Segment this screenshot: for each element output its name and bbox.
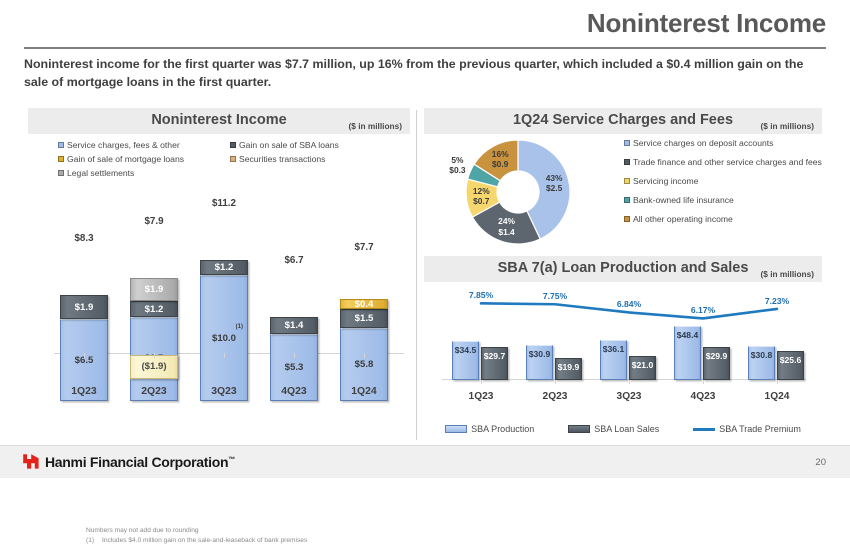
legend-swatch-icon <box>693 428 715 431</box>
noninterest-income-plot: $6.5$1.9$8.31Q23$6.7$1.2$1.9$7.9($1.9)2Q… <box>54 186 404 401</box>
legend-label: Servicing income <box>633 176 698 187</box>
bar-sba-production: $30.8 <box>748 346 775 380</box>
bar-sba-production: $30.9 <box>526 345 553 380</box>
legend-item: Bank-owned life insurance <box>624 195 822 206</box>
x-axis-label: 1Q23 <box>60 386 108 397</box>
trade-premium-label: 7.85% <box>458 290 504 300</box>
donut-legend: Service charges on deposit accounts Trad… <box>624 138 822 233</box>
legend-item: Securities transactions <box>230 154 325 164</box>
legend-item: Gain of sale of mortgage loans <box>58 154 230 164</box>
legend-item: Service charges on deposit accounts <box>624 138 822 149</box>
legend-item: Trade finance and other service charges … <box>624 157 822 168</box>
legend-label: Service charges, fees & other <box>67 140 180 150</box>
bar-segment: $1.9 <box>60 295 108 319</box>
bar-total-label: $11.2 <box>200 198 248 209</box>
x-axis-tick <box>703 380 704 384</box>
donut-slice-percent: 43% <box>534 173 574 184</box>
x-axis-label: 1Q24 <box>746 391 808 402</box>
legend-swatch-icon <box>230 156 236 162</box>
legend-swatch-icon <box>624 140 630 146</box>
footnote-marker: (1) <box>236 324 243 330</box>
bar-segment: $1.9 <box>130 278 178 302</box>
bar-group: $30.9$19.9 <box>524 310 586 380</box>
bar-sba-loan-sales: $25.6 <box>777 351 804 380</box>
legend-swatch-icon <box>445 425 467 433</box>
bar-total-label: $7.9 <box>130 216 178 227</box>
legend-swatch-icon <box>58 156 64 162</box>
bar-sba-production: $48.4 <box>674 326 701 380</box>
legend-item: Service charges, fees & other <box>58 140 230 150</box>
bar-group: $34.5$29.7 <box>450 310 512 380</box>
panel-divider <box>416 110 417 440</box>
brand-name: Hanmi Financial Corporation™ <box>45 454 235 470</box>
legend-item: Legal settlements <box>58 168 230 178</box>
sba-legend: SBA Production SBA Loan Sales SBA Trade … <box>436 424 810 434</box>
trade-premium-label: 6.84% <box>606 299 652 309</box>
x-axis-tick <box>154 353 155 358</box>
x-axis-tick <box>84 353 85 358</box>
trade-premium-label: 6.17% <box>680 305 726 315</box>
service-charges-chart-panel: 1Q24 Service Charges and Fees ($ in mill… <box>424 108 822 253</box>
bar-segment-negative: ($1.9) <box>130 355 178 379</box>
donut-slice-value: $1.4 <box>487 227 527 238</box>
legend-swatch-icon <box>624 197 630 203</box>
x-axis-label: 1Q23 <box>450 391 512 402</box>
sba-plot: $34.5$29.71Q23$30.9$19.92Q23$36.1$21.03Q… <box>436 286 812 406</box>
bar-sba-loan-sales: $19.9 <box>555 358 582 380</box>
legend-label: Securities transactions <box>239 154 325 164</box>
x-axis-label: 4Q23 <box>270 386 318 397</box>
legend-label: Legal settlements <box>67 168 134 178</box>
donut-slice-percent: 24% <box>487 216 527 227</box>
bar-sba-loan-sales: $29.7 <box>481 347 508 380</box>
donut-slice-label: 16%$0.9 <box>480 149 520 170</box>
x-axis-label: 4Q23 <box>672 391 734 402</box>
legend-label: Service charges on deposit accounts <box>633 138 773 149</box>
sba-loan-chart-panel: SBA 7(a) Loan Production and Sales ($ in… <box>424 256 822 438</box>
page-number: 20 <box>815 457 826 468</box>
donut-slice-value: $0.3 <box>437 165 477 176</box>
x-axis-label: 3Q23 <box>200 386 248 397</box>
legend-label: Gain of sale of mortgage loans <box>67 154 184 164</box>
donut-slice-value: $0.9 <box>480 159 520 170</box>
sba-panel-header: SBA 7(a) Loan Production and Sales ($ in… <box>424 256 822 282</box>
legend-swatch-icon <box>58 170 64 176</box>
legend-label: SBA Loan Sales <box>594 424 659 434</box>
donut-slice-label: 5%$0.3 <box>437 155 477 176</box>
legend-swatch-icon <box>624 159 630 165</box>
left-panel-units: ($ in millions) <box>349 121 402 131</box>
legend-item: SBA Trade Premium <box>693 424 801 434</box>
bar-sba-loan-sales: $21.0 <box>629 356 656 380</box>
bar-stack: $6.7$1.2$1.9 <box>130 278 178 401</box>
bar-segment: $1.4 <box>270 317 318 335</box>
bar-segment: $0.4 <box>340 299 388 309</box>
donut-plot: 43%$2.524%$1.412%$0.75%$0.316%$0.9 <box>454 136 582 248</box>
trademark-icon: ™ <box>228 456 235 463</box>
brand-lockup: Hanmi Financial Corporation™ <box>22 453 235 470</box>
bar-segment: $10.0(1) <box>200 275 248 401</box>
legend-label: Gain on sale of SBA loans <box>239 140 339 150</box>
left-panel-header: Noninterest Income ($ in millions) <box>28 108 410 134</box>
x-axis-label: 2Q23 <box>130 386 178 397</box>
bar-segment: $1.2 <box>200 260 248 275</box>
footnote-text: Includes $4.0 million gain on the sale-a… <box>102 537 307 544</box>
left-chart-legend: Service charges, fees & other Gain on sa… <box>58 138 408 180</box>
page-subtitle: Noninterest income for the first quarter… <box>24 55 830 91</box>
x-axis-label: 2Q23 <box>524 391 586 402</box>
legend-label: Trade finance and other service charges … <box>633 157 822 168</box>
legend-label: SBA Production <box>471 424 534 434</box>
trade-premium-label: 7.75% <box>532 291 578 301</box>
x-axis-tick <box>481 380 482 384</box>
bar-total-label: $6.7 <box>270 255 318 266</box>
title-divider <box>24 47 826 49</box>
bar-sba-loan-sales: $29.9 <box>703 347 730 380</box>
x-axis-label: 1Q24 <box>340 386 388 397</box>
donut-panel-units: ($ in millions) <box>761 121 814 131</box>
sba-panel-units: ($ in millions) <box>761 269 814 279</box>
bar-total-label: $8.3 <box>60 233 108 244</box>
x-axis-label: 3Q23 <box>598 391 660 402</box>
legend-swatch-icon <box>568 425 590 433</box>
donut-slice-percent: 5% <box>437 155 477 166</box>
legend-label: All other operating income <box>633 214 733 225</box>
donut-slice-percent: 16% <box>480 149 520 160</box>
donut-slice-label: 24%$1.4 <box>487 216 527 237</box>
page-title: Noninterest Income <box>587 8 826 39</box>
legend-item: All other operating income <box>624 214 822 225</box>
donut-slice-label: 12%$0.7 <box>461 186 501 207</box>
bar-segment: $1.5 <box>340 309 388 328</box>
legend-label: Bank-owned life insurance <box>633 195 734 206</box>
legend-item: Gain on sale of SBA loans <box>230 140 339 150</box>
bar-sba-production: $34.5 <box>452 341 479 380</box>
x-axis-tick <box>224 353 225 358</box>
bar-group: $36.1$21.0 <box>598 310 660 380</box>
bar-group: $30.8$25.6 <box>746 310 808 380</box>
footnote-rounding: Numbers may not add due to rounding <box>86 526 307 536</box>
donut-slice-label: 43%$2.5 <box>534 173 574 194</box>
x-axis-tick <box>364 353 365 358</box>
slide-footer: Hanmi Financial Corporation™ 20 <box>0 445 850 478</box>
x-axis-tick <box>555 380 556 384</box>
bar-segment: $1.2 <box>130 301 178 316</box>
donut-panel-header: 1Q24 Service Charges and Fees ($ in mill… <box>424 108 822 134</box>
trade-premium-label: 7.23% <box>754 296 800 306</box>
bar-stack: $10.0(1)$1.2 <box>200 260 248 401</box>
noninterest-income-chart-panel: Noninterest Income ($ in millions) Servi… <box>28 108 410 438</box>
donut-slice-value: $0.7 <box>461 196 501 207</box>
x-axis-tick <box>777 380 778 384</box>
bar-total-label: $7.7 <box>340 242 388 253</box>
donut-slice-value: $2.5 <box>534 183 574 194</box>
legend-swatch-icon <box>624 178 630 184</box>
x-axis-tick <box>294 353 295 358</box>
legend-label: SBA Trade Premium <box>719 424 801 434</box>
legend-swatch-icon <box>230 142 236 148</box>
left-chart-footnotes: Numbers may not add due to rounding (1)I… <box>86 526 307 546</box>
bar-group: $48.4$29.9 <box>672 310 734 380</box>
donut-slice-percent: 12% <box>461 186 501 197</box>
footnote-index: (1) <box>86 536 102 546</box>
x-axis-tick <box>629 380 630 384</box>
bar-sba-production: $36.1 <box>600 340 627 380</box>
legend-item: SBA Production <box>445 424 534 434</box>
legend-swatch-icon <box>58 142 64 148</box>
legend-item: SBA Loan Sales <box>568 424 659 434</box>
hanmi-logo-icon <box>22 453 40 470</box>
legend-swatch-icon <box>624 216 630 222</box>
footnote-1: (1)Includes $4.0 million gain on the sal… <box>86 536 307 546</box>
legend-item: Servicing income <box>624 176 822 187</box>
